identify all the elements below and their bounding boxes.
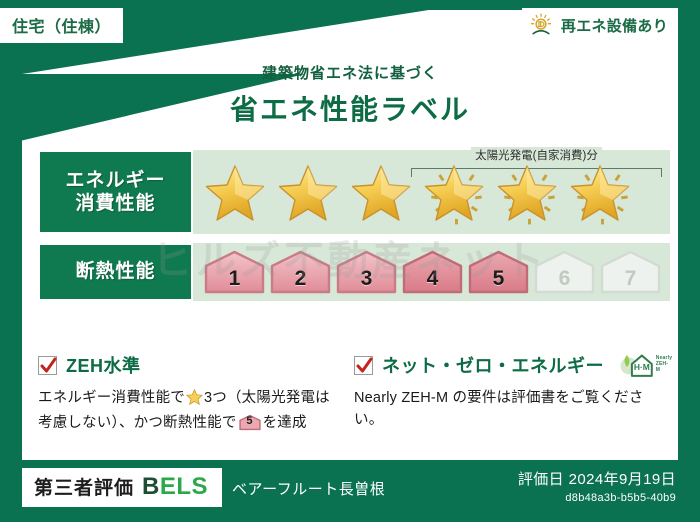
energy-performance-label-box: エネルギー 消費性能 [38, 150, 193, 234]
insulation-level-number: 1 [229, 267, 241, 294]
insulation-level-number: 5 [493, 267, 505, 294]
bels-logo-part1: B [142, 473, 160, 500]
house-icon-number: 5 [239, 414, 261, 431]
bels-jp-label: 第三者評価 [34, 473, 134, 500]
title-block: 建築物省エネ法に基づく 省エネ性能ラベル [0, 62, 700, 128]
zeh-desc-part1: エネルギー消費性能で [38, 390, 185, 406]
bels-logo: BELS [142, 473, 208, 501]
renewable-badge-label: 再エネ設備あり [561, 15, 668, 36]
property-name: ベアーフルート長曽根 [232, 478, 385, 499]
insulation-performance-row: 断熱性能 1 [38, 243, 670, 301]
zeh-checkbox[interactable] [38, 356, 57, 375]
bels-badge: 第三者評価 BELS [22, 468, 222, 507]
insulation-level-3: 3 [335, 250, 398, 294]
evaluation-date: 評価日 2024年9月19日 [518, 468, 676, 489]
star-icon [272, 155, 343, 229]
evaluation-id: d8b48a3b-b5b5-40b9 [518, 492, 676, 504]
building-type-tab: 住宅（住棟） [0, 8, 123, 43]
net-zero-criteria-title: ネット・ゼロ・エネルギー [382, 352, 604, 378]
criteria-section: ZEH水準 エネルギー消費性能で3つ（太陽光発電は考慮しない）、かつ断熱性能で5… [38, 352, 670, 435]
star-icon-solar [418, 155, 489, 229]
energy-label-line2: 消費性能 [75, 192, 155, 215]
star-rating [199, 155, 664, 229]
insulation-level-number: 6 [559, 267, 571, 294]
zeh-m-house-icon: H·M Nearly ZEH-M [620, 352, 673, 378]
star-icon [199, 155, 270, 229]
zeh-m-sublabel: Nearly ZEH-M [656, 356, 673, 373]
label-subtitle: 建築物省エネ法に基づく [0, 62, 700, 83]
star-icon-solar [564, 155, 635, 229]
insulation-level-2: 2 [269, 250, 332, 294]
footer-bar: 第三者評価 BELS ベアーフルート長曽根 評価日 2024年9月19日 d8b… [0, 460, 700, 522]
insulation-level-list: 1 2 3 [203, 250, 662, 294]
insulation-performance-label-box: 断熱性能 [38, 243, 193, 301]
insulation-level-5: 5 [467, 250, 530, 294]
label-title: 省エネ性能ラベル [0, 88, 700, 128]
insulation-level-6: 6 [533, 250, 596, 294]
renewable-energy-badge: 再エネ設備あり [522, 8, 678, 42]
zeh-criteria-title: ZEH水準 [66, 352, 141, 378]
ratings-section: エネルギー 消費性能 太陽光発電(自家消費)分 [38, 150, 670, 310]
insulation-level-number: 7 [625, 267, 637, 294]
zeh-desc-part3: を達成 [263, 415, 307, 431]
solar-sun-icon [528, 12, 554, 38]
insulation-label-text: 断熱性能 [75, 260, 155, 283]
bels-logo-part2: ELS [160, 473, 208, 500]
star-icon [345, 155, 416, 229]
insulation-levels-area: 1 2 3 [193, 243, 670, 301]
zeh-check-line: ZEH水準 [38, 352, 336, 378]
zeh-criteria-column: ZEH水準 エネルギー消費性能で3つ（太陽光発電は考慮しない）、かつ断熱性能で5… [38, 352, 336, 435]
energy-performance-label: 住宅（住棟） 再エネ設備あり 建築物省エ [0, 0, 700, 522]
zeh-criteria-description: エネルギー消費性能で3つ（太陽光発電は考慮しない）、かつ断熱性能で5を達成 [38, 387, 336, 435]
net-zero-criteria-description: Nearly ZEH-M の要件は評価書をご覧ください。 [354, 387, 670, 432]
energy-label-line1: エネルギー [65, 169, 165, 192]
star-icon [186, 389, 203, 412]
insulation-level-7: 7 [599, 250, 662, 294]
insulation-level-4: 4 [401, 250, 464, 294]
energy-performance-row: エネルギー 消費性能 太陽光発電(自家消費)分 [38, 150, 670, 234]
net-zero-check-line: ネット・ゼロ・エネルギー H·M Nearly ZEH-M [354, 352, 670, 378]
insulation-level-1: 1 [203, 250, 266, 294]
star-icon-solar [491, 155, 562, 229]
net-zero-criteria-column: ネット・ゼロ・エネルギー H·M Nearly ZEH-M Nearly ZEH… [354, 352, 670, 435]
zeh-m-sub-line2: ZEH-M [656, 361, 668, 373]
net-zero-checkbox[interactable] [354, 356, 373, 375]
svg-text:H·M: H·M [634, 362, 650, 372]
energy-stars-area: 太陽光発電(自家消費)分 [193, 150, 670, 234]
insulation-level-number: 3 [361, 267, 373, 294]
house-icon: 5 [239, 414, 261, 431]
insulation-level-number: 2 [295, 267, 307, 294]
evaluation-info: 評価日 2024年9月19日 d8b48a3b-b5b5-40b9 [518, 468, 676, 504]
insulation-level-number: 4 [427, 267, 439, 294]
